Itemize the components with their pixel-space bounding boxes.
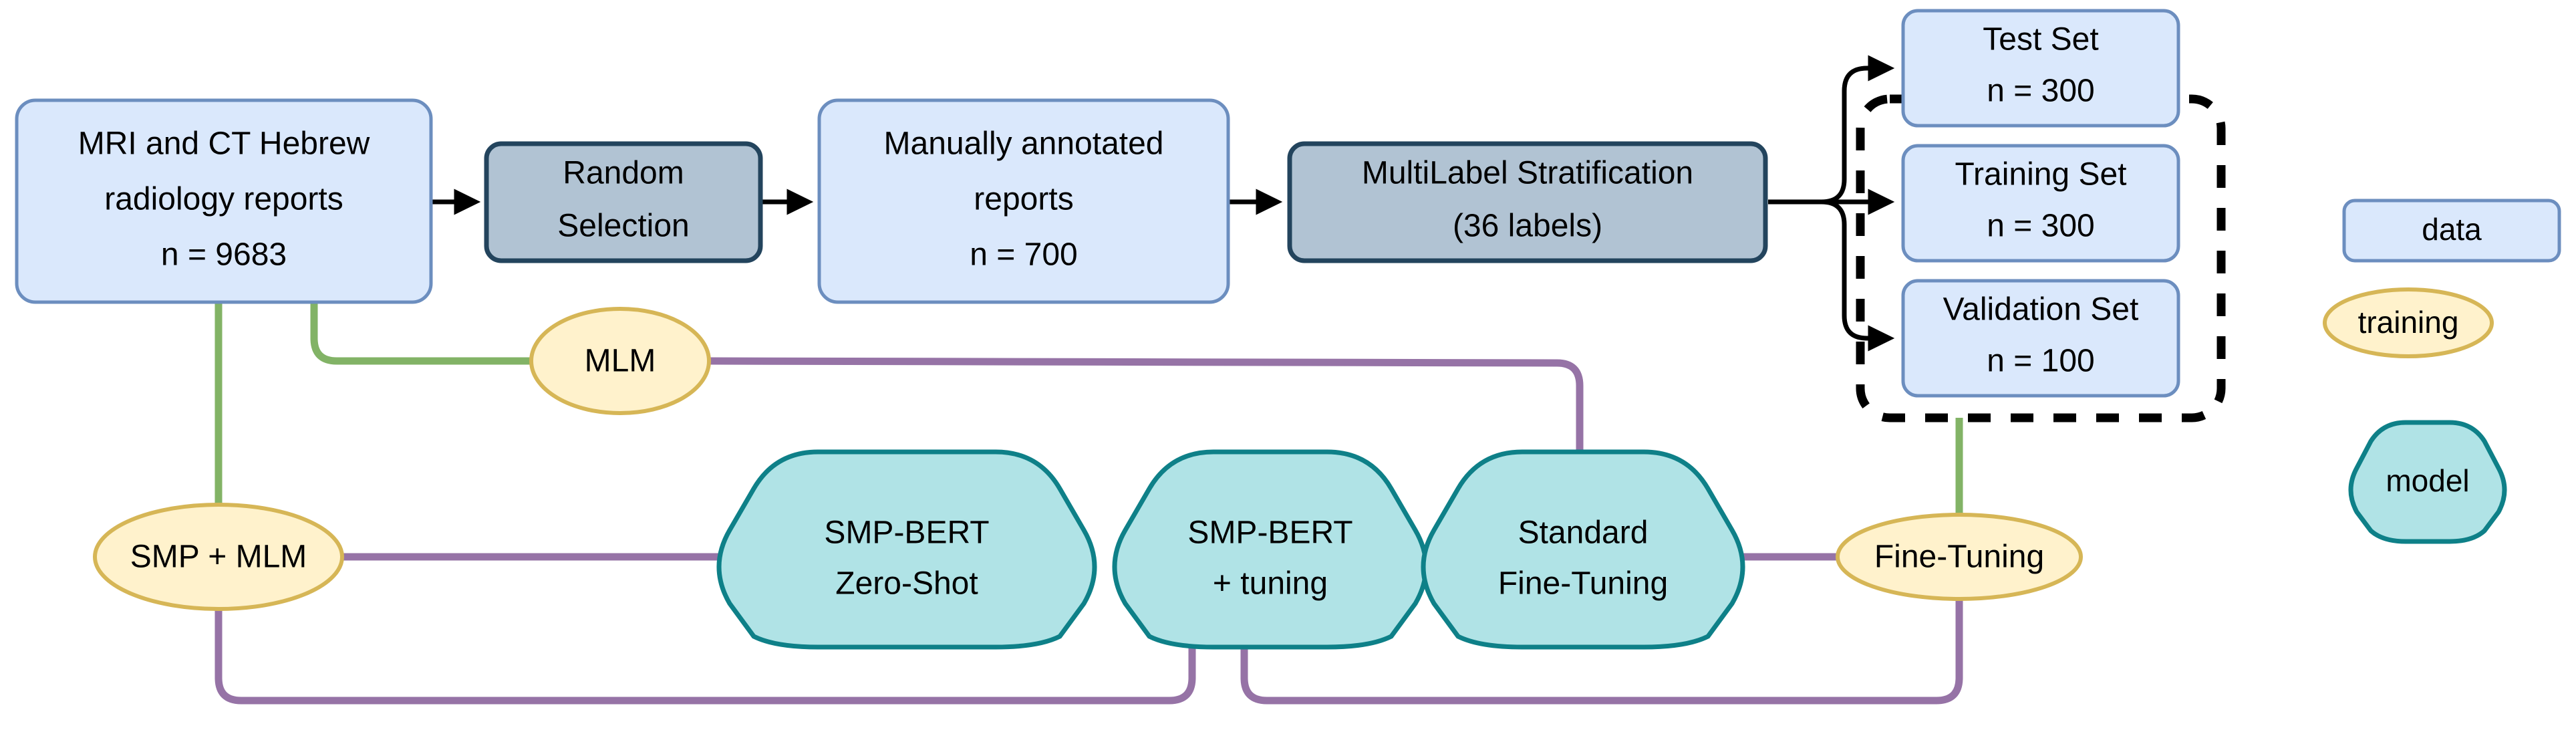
node-standard-fine-tuning[interactable]: Standard Fine-Tuning <box>1423 452 1743 647</box>
arrow-split-to-validation-set <box>1804 202 1890 338</box>
node-source-reports-line3: n = 9683 <box>161 237 287 273</box>
node-test-set-count: n = 300 <box>1987 74 2094 109</box>
node-random-selection-line2: Selection <box>557 209 689 244</box>
node-fine-tuning[interactable]: Fine-Tuning <box>1838 515 2081 599</box>
legend-training-label: training <box>2358 305 2459 340</box>
node-smp-bert-tuning[interactable]: SMP-BERT + tuning <box>1115 452 1426 647</box>
node-fine-tuning-label: Fine-Tuning <box>1874 539 2044 575</box>
legend-item-data: data <box>2344 201 2559 261</box>
node-standard-fine-tuning-line1: Standard <box>1518 515 1649 551</box>
node-smp-mlm[interactable]: SMP + MLM <box>95 505 342 609</box>
node-smp-bert-zero-shot-line1: SMP-BERT <box>824 515 989 551</box>
edge-mlm-to-standard-fine-tuning <box>709 361 1580 451</box>
flowchart-canvas: MRI and CT Hebrew radiology reports n = … <box>0 0 2576 742</box>
node-smp-bert-zero-shot[interactable]: SMP-BERT Zero-Shot <box>719 452 1095 647</box>
node-training-set-label: Training Set <box>1955 157 2126 193</box>
node-annotated-reports-line3: n = 700 <box>970 237 1077 273</box>
node-training-set[interactable]: Training Set n = 300 <box>1903 146 2178 261</box>
edge-source-to-mlm <box>314 302 531 361</box>
node-random-selection[interactable]: Random Selection <box>486 144 760 261</box>
node-mlm-label: MLM <box>585 344 656 379</box>
flowchart-svg: MRI and CT Hebrew radiology reports n = … <box>0 0 2576 742</box>
node-annotated-reports-line1: Manually annotated <box>884 126 1164 162</box>
node-training-set-count: n = 300 <box>1987 209 2094 244</box>
node-standard-fine-tuning-line2: Fine-Tuning <box>1498 566 1668 602</box>
legend-model-label: model <box>2386 463 2469 498</box>
node-validation-set[interactable]: Validation Set n = 100 <box>1903 281 2178 396</box>
node-mlm[interactable]: MLM <box>531 309 709 413</box>
arrow-split-to-test-set <box>1804 68 1890 202</box>
legend-data-label: data <box>2422 212 2482 247</box>
legend: data training model <box>2325 201 2559 541</box>
node-validation-set-label: Validation Set <box>1943 292 2139 328</box>
node-validation-set-count: n = 100 <box>1987 344 2094 379</box>
node-annotated-reports-line2: reports <box>974 182 1073 217</box>
node-annotated-reports[interactable]: Manually annotated reports n = 700 <box>819 100 1228 302</box>
node-multilabel-stratification-line2: (36 labels) <box>1453 209 1602 244</box>
node-multilabel-stratification[interactable]: MultiLabel Stratification (36 labels) <box>1290 144 1765 261</box>
legend-item-training: training <box>2325 289 2492 356</box>
node-test-set[interactable]: Test Set n = 300 <box>1903 11 2178 126</box>
node-smp-bert-tuning-line1: SMP-BERT <box>1187 515 1352 551</box>
node-smp-bert-zero-shot-line2: Zero-Shot <box>835 566 978 602</box>
node-source-reports[interactable]: MRI and CT Hebrew radiology reports n = … <box>17 100 431 302</box>
node-source-reports-line1: MRI and CT Hebrew <box>78 126 370 162</box>
node-smp-mlm-label: SMP + MLM <box>130 539 307 575</box>
node-multilabel-stratification-line1: MultiLabel Stratification <box>1362 156 1693 191</box>
node-test-set-label: Test Set <box>1983 22 2098 57</box>
node-random-selection-line1: Random <box>563 156 684 191</box>
node-smp-bert-tuning-line2: + tuning <box>1213 566 1328 602</box>
legend-item-model: model <box>2351 422 2505 541</box>
node-source-reports-line2: radiology reports <box>104 182 343 217</box>
